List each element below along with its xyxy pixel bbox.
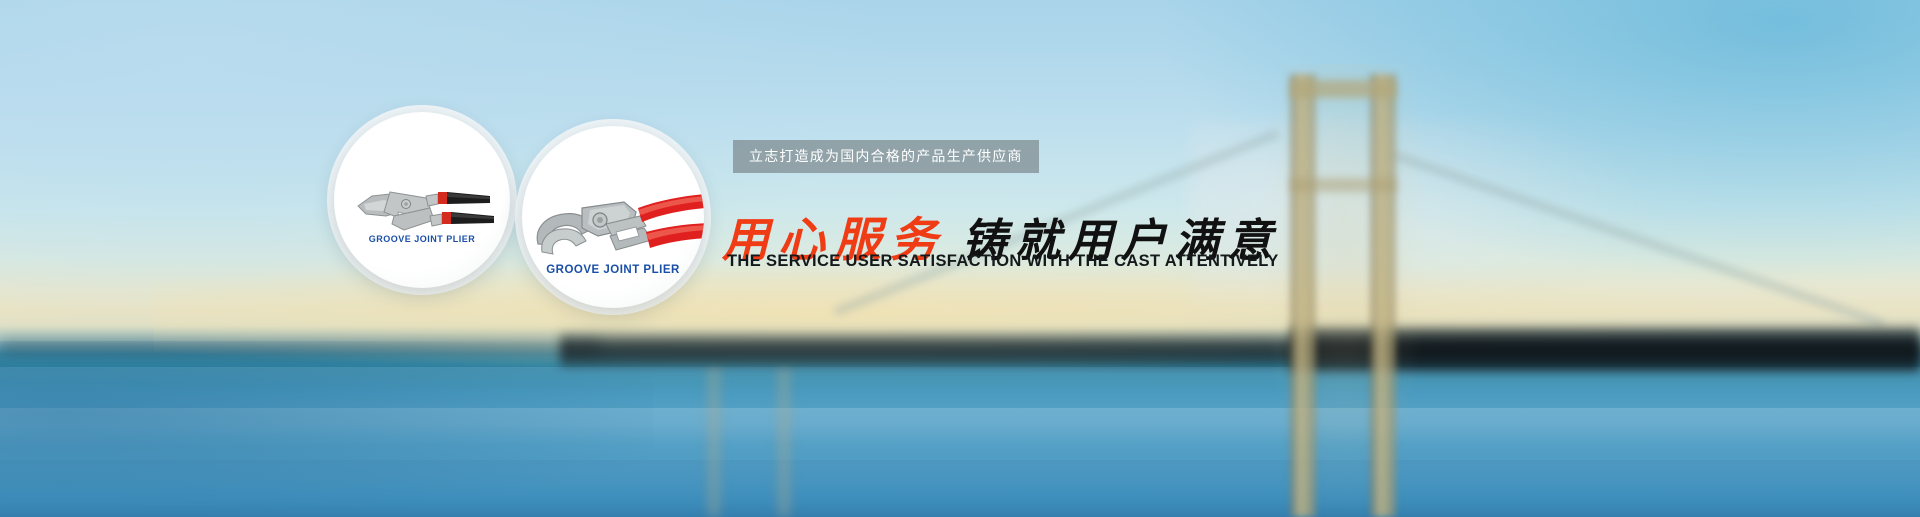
bridge-tower-leg [1370, 74, 1396, 517]
bridge-far-pier-leg [776, 366, 792, 517]
bridge-far-pier-leg [706, 366, 722, 517]
product-circle-groove-joint-plier-black[interactable]: GROOVE JOINT PLIER [334, 112, 510, 288]
tagline-badge: 立志打造成为国内合格的产品生产供应商 [733, 140, 1039, 173]
groove-joint-plier-red-icon [522, 126, 704, 308]
product-circle-groove-joint-plier-red[interactable]: GROOVE JOINT PLIER [522, 126, 704, 308]
bridge-deck-far [0, 336, 600, 358]
promo-banner: GROOVE JOINT PLIER [0, 0, 1920, 517]
bridge-tower-crossbeam [1290, 178, 1396, 192]
product-label: GROOVE JOINT PLIER [334, 234, 510, 244]
product-label: GROOVE JOINT PLIER [522, 264, 704, 276]
headline-english-subtitle: THE SERVICE USER SATISFACTION WITH THE C… [727, 252, 1279, 271]
bridge-tower-crossbeam [1290, 80, 1396, 98]
bridge-tower-leg [1290, 74, 1316, 517]
groove-joint-plier-black-icon [334, 112, 510, 288]
tower-glow [1262, 64, 1428, 517]
